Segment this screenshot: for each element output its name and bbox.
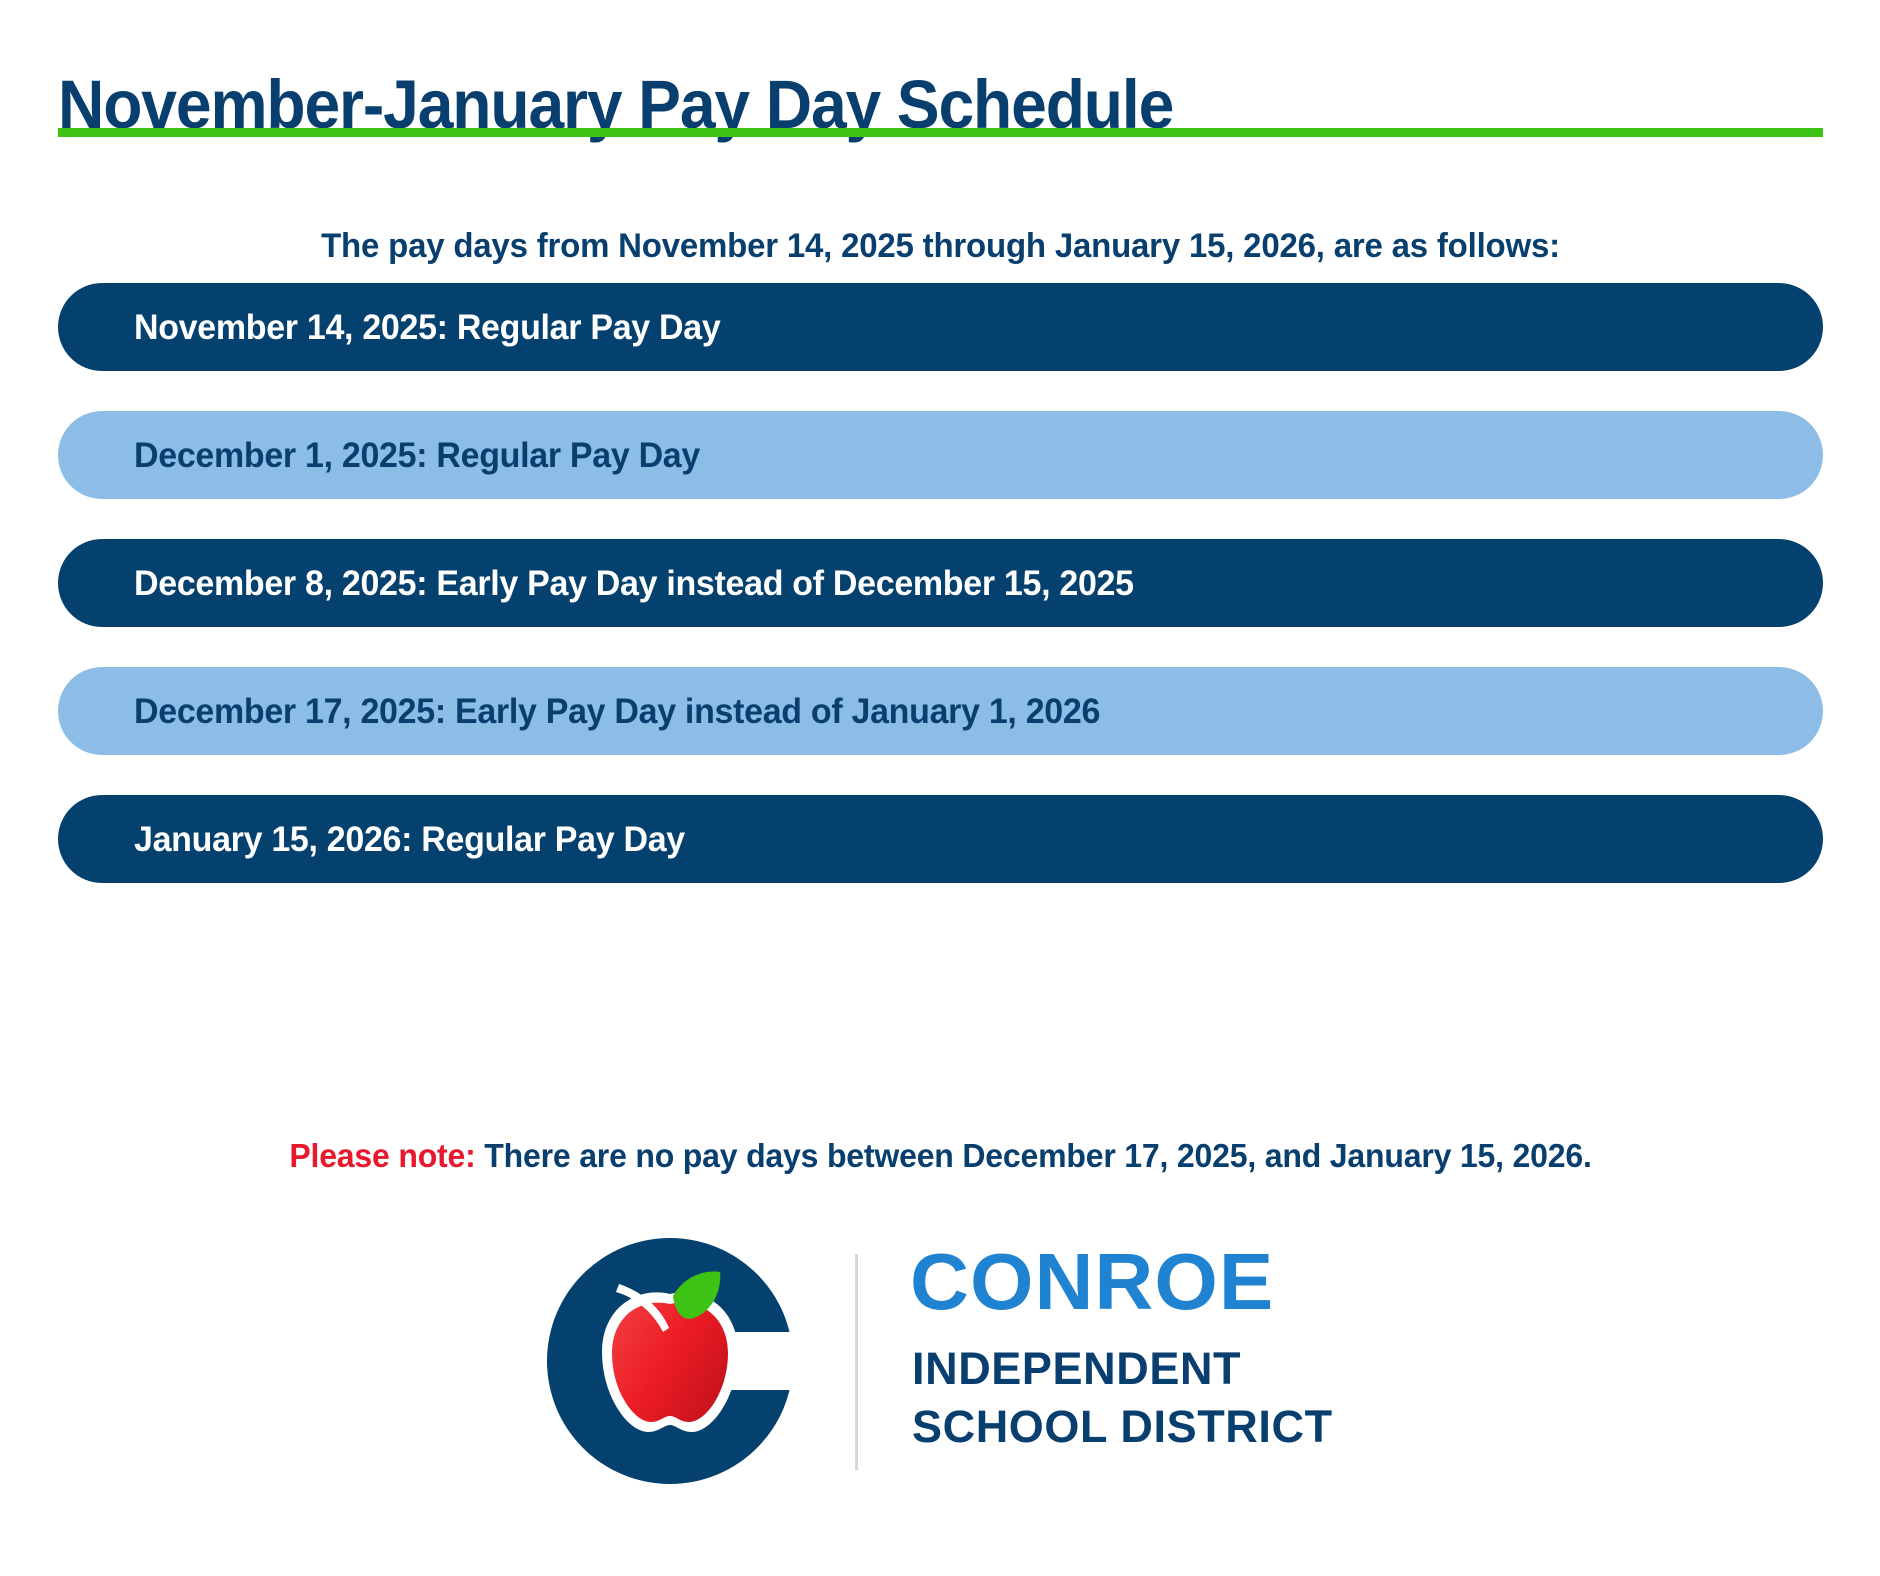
please-note-text: Please note: There are no pay days betwe… [84, 1137, 1796, 1175]
apple-c-icon [545, 1236, 795, 1486]
pay-day-schedule-graphic: November-January Pay Day Schedule The pa… [0, 0, 1880, 1576]
pay-day-label: November 14, 2025: Regular Pay Day [134, 310, 720, 345]
wordmark-independent: INDEPENDENT [912, 1346, 1241, 1391]
list-item: December 17, 2025: Early Pay Day instead… [58, 667, 1823, 755]
please-note-emphasis: Please note: [289, 1137, 475, 1174]
list-item: December 1, 2025: Regular Pay Day [58, 411, 1823, 499]
list-item: January 15, 2026: Regular Pay Day [58, 795, 1823, 883]
list-item: December 8, 2025: Early Pay Day instead … [58, 539, 1823, 627]
please-note-body: There are no pay days between December 1… [476, 1137, 1592, 1174]
wordmark-school-district: SCHOOL DISTRICT [912, 1404, 1333, 1449]
pay-day-label: January 15, 2026: Regular Pay Day [134, 822, 685, 857]
conroe-isd-logo: CONROE INDEPENDENT SCHOOL DISTRICT [545, 1236, 1335, 1486]
list-item: November 14, 2025: Regular Pay Day [58, 283, 1823, 371]
intro-text: The pay days from November 14, 2025 thro… [84, 227, 1796, 266]
pay-day-list: November 14, 2025: Regular Pay Day Decem… [58, 283, 1823, 883]
wordmark-conroe: CONROE [910, 1242, 1274, 1322]
pay-day-label: December 1, 2025: Regular Pay Day [134, 438, 700, 473]
title-divider-rule [58, 128, 1823, 137]
pay-day-label: December 17, 2025: Early Pay Day instead… [134, 694, 1100, 729]
logo-wordmark: CONROE INDEPENDENT SCHOOL DISTRICT [910, 1236, 1340, 1486]
logo-divider [855, 1254, 858, 1470]
pay-day-label: December 8, 2025: Early Pay Day instead … [134, 566, 1134, 601]
